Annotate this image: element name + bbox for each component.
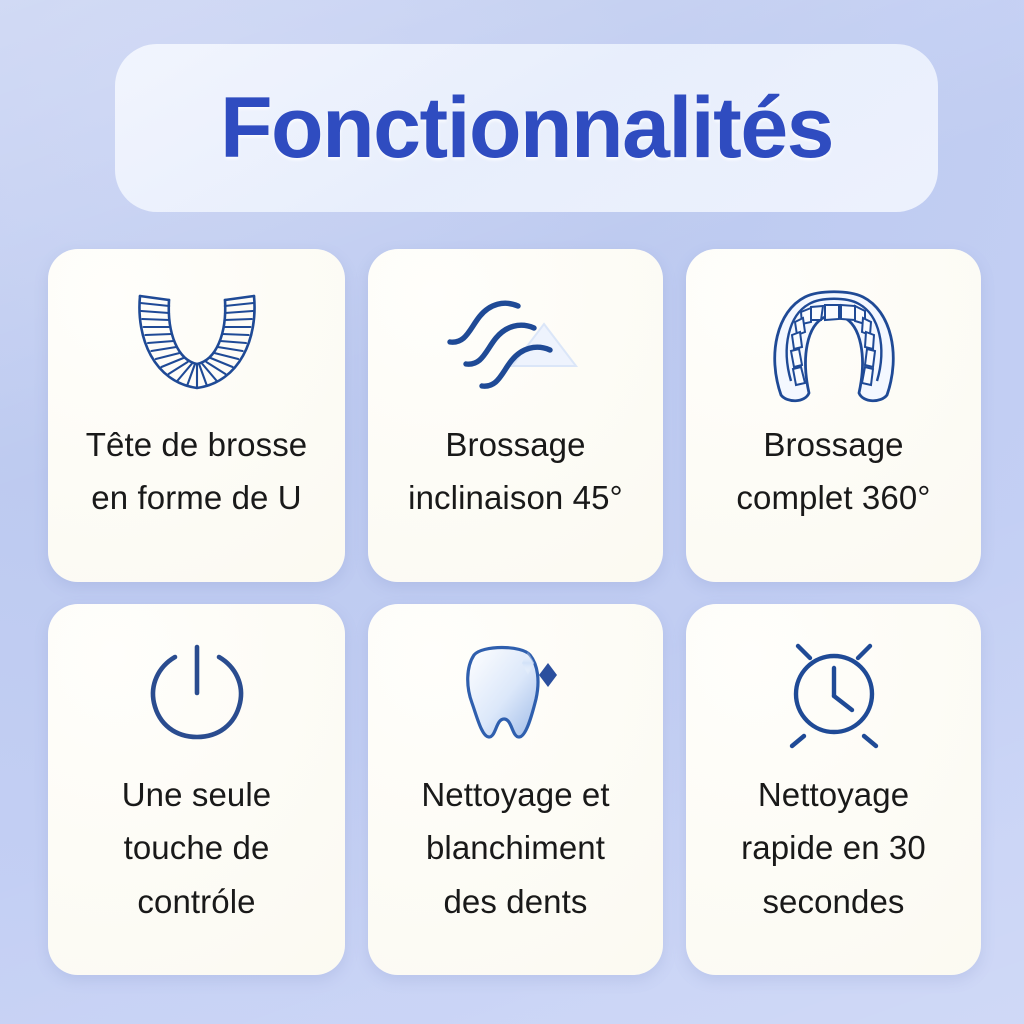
feature-label-line-3: contróle bbox=[122, 875, 272, 928]
power-button-icon bbox=[48, 604, 345, 772]
feature-card-label: Brossage complet 360° bbox=[722, 418, 944, 525]
feature-card-label: Nettoyage et blanchiment des dents bbox=[407, 768, 623, 928]
u-shaped-brush-head-icon bbox=[48, 249, 345, 424]
dental-arch-mouthpiece-icon bbox=[686, 249, 981, 424]
feature-card-clean-whiten-teeth[interactable]: Nettoyage et blanchiment des dents bbox=[368, 604, 663, 975]
feature-label-line-2: en forme de U bbox=[86, 471, 308, 524]
feature-card-label: Tête de brosse en forme de U bbox=[72, 418, 322, 525]
feature-card-label: Brossage inclinaison 45° bbox=[394, 418, 637, 525]
feature-card-one-touch-control[interactable]: Une seule touche de contróle bbox=[48, 604, 345, 975]
sparkling-tooth-icon bbox=[368, 604, 663, 772]
feature-card-360-brushing[interactable]: Brossage complet 360° bbox=[686, 249, 981, 582]
feature-card-45-degree-brushing[interactable]: Brossage inclinaison 45° bbox=[368, 249, 663, 582]
feature-label-line-1: Une seule bbox=[122, 768, 272, 821]
feature-card-30-second-clean[interactable]: Nettoyage rapide en 30 secondes bbox=[686, 604, 981, 975]
feature-label-line-2: inclinaison 45° bbox=[408, 471, 623, 524]
alarm-clock-icon bbox=[686, 604, 981, 772]
feature-card-label: Une seule touche de contróle bbox=[108, 768, 286, 928]
feature-label-line-2: complet 360° bbox=[736, 471, 930, 524]
feature-grid: Tête de brosse en forme de U Brossage in… bbox=[48, 249, 980, 975]
feature-label-line-1: Nettoyage bbox=[741, 768, 926, 821]
feature-card-u-brush-head[interactable]: Tête de brosse en forme de U bbox=[48, 249, 345, 582]
feature-label-line-1: Tête de brosse bbox=[86, 418, 308, 471]
page-title: Fonctionnalités bbox=[220, 85, 833, 171]
angled-waves-icon bbox=[368, 249, 663, 424]
feature-label-line-2: touche de bbox=[122, 821, 272, 874]
feature-label-line-1: Brossage bbox=[736, 418, 930, 471]
feature-label-line-2: rapide en 30 bbox=[741, 821, 926, 874]
header-panel: Fonctionnalités bbox=[115, 44, 938, 212]
feature-label-line-1: Brossage bbox=[408, 418, 623, 471]
feature-label-line-1: Nettoyage et bbox=[421, 768, 609, 821]
feature-label-line-2: blanchiment bbox=[421, 821, 609, 874]
feature-card-label: Nettoyage rapide en 30 secondes bbox=[727, 768, 940, 928]
feature-label-line-3: secondes bbox=[741, 875, 926, 928]
feature-label-line-3: des dents bbox=[421, 875, 609, 928]
